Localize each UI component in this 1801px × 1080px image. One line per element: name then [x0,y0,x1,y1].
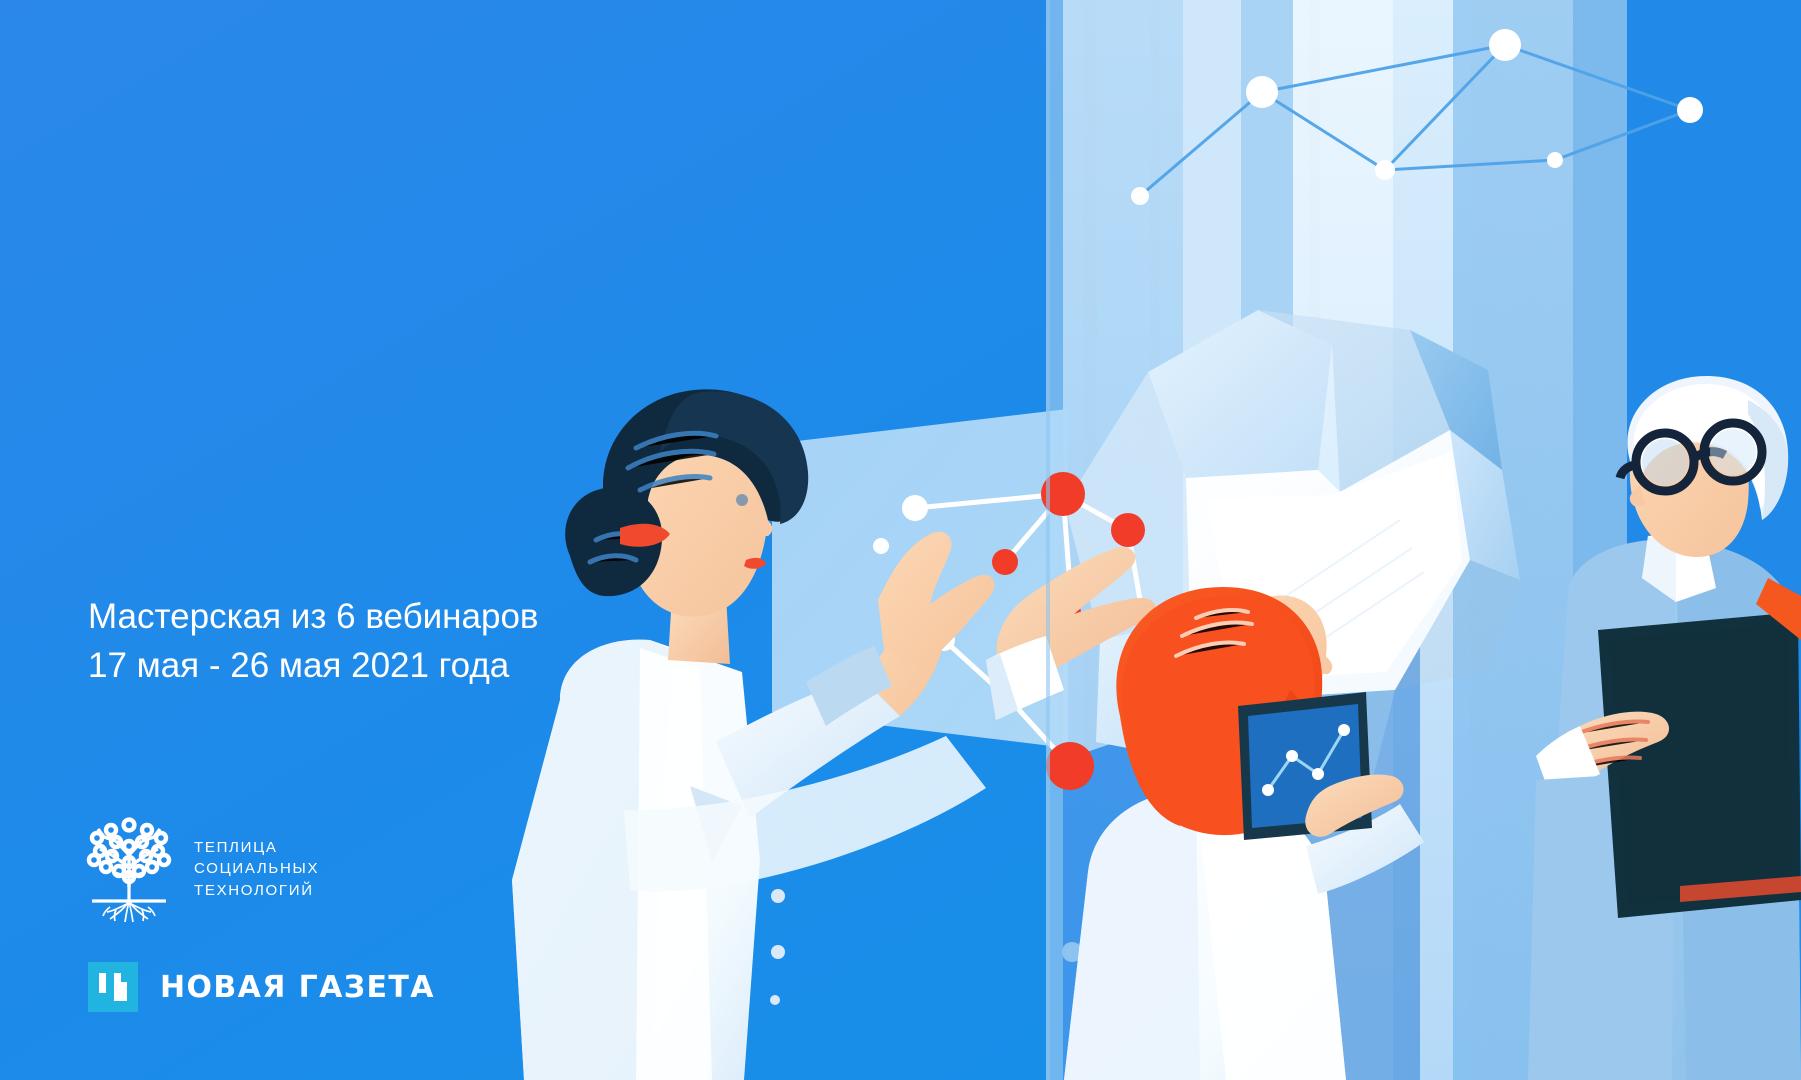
ng-monogram-icon [88,962,138,1012]
logo-novaya-gazeta-label: НОВАЯ ГАЗЕТА [160,970,435,1005]
clipboard [1598,612,1801,918]
logo-teplitsa-label: ТЕПЛИЦА СОЦИАЛЬНЫХ ТЕХНОЛОГИЙ [194,837,319,902]
teplitsa-line-1: ТЕПЛИЦА [194,837,319,859]
teplitsa-line-3: ТЕХНОЛОГИЙ [194,880,319,902]
subtitle-line-count: Мастерская из 6 вебинаров [88,592,539,641]
logo-teplitsa[interactable]: ТЕПЛИЦА СОЦИАЛЬНЫХ ТЕХНОЛОГИЙ [86,815,319,923]
teplitsa-line-2: СОЦИАЛЬНЫХ [194,858,319,880]
event-subtitle: Мастерская из 6 вебинаров 17 мая - 26 ма… [88,592,539,690]
tree-of-nodes-icon [86,815,172,923]
promo-banner: Поиск и обоснование управленческих решен… [0,0,1801,1080]
logo-novaya-gazeta[interactable]: НОВАЯ ГАЗЕТА [88,962,435,1012]
subtitle-line-dates: 17 мая - 26 мая 2021 года [88,641,539,690]
